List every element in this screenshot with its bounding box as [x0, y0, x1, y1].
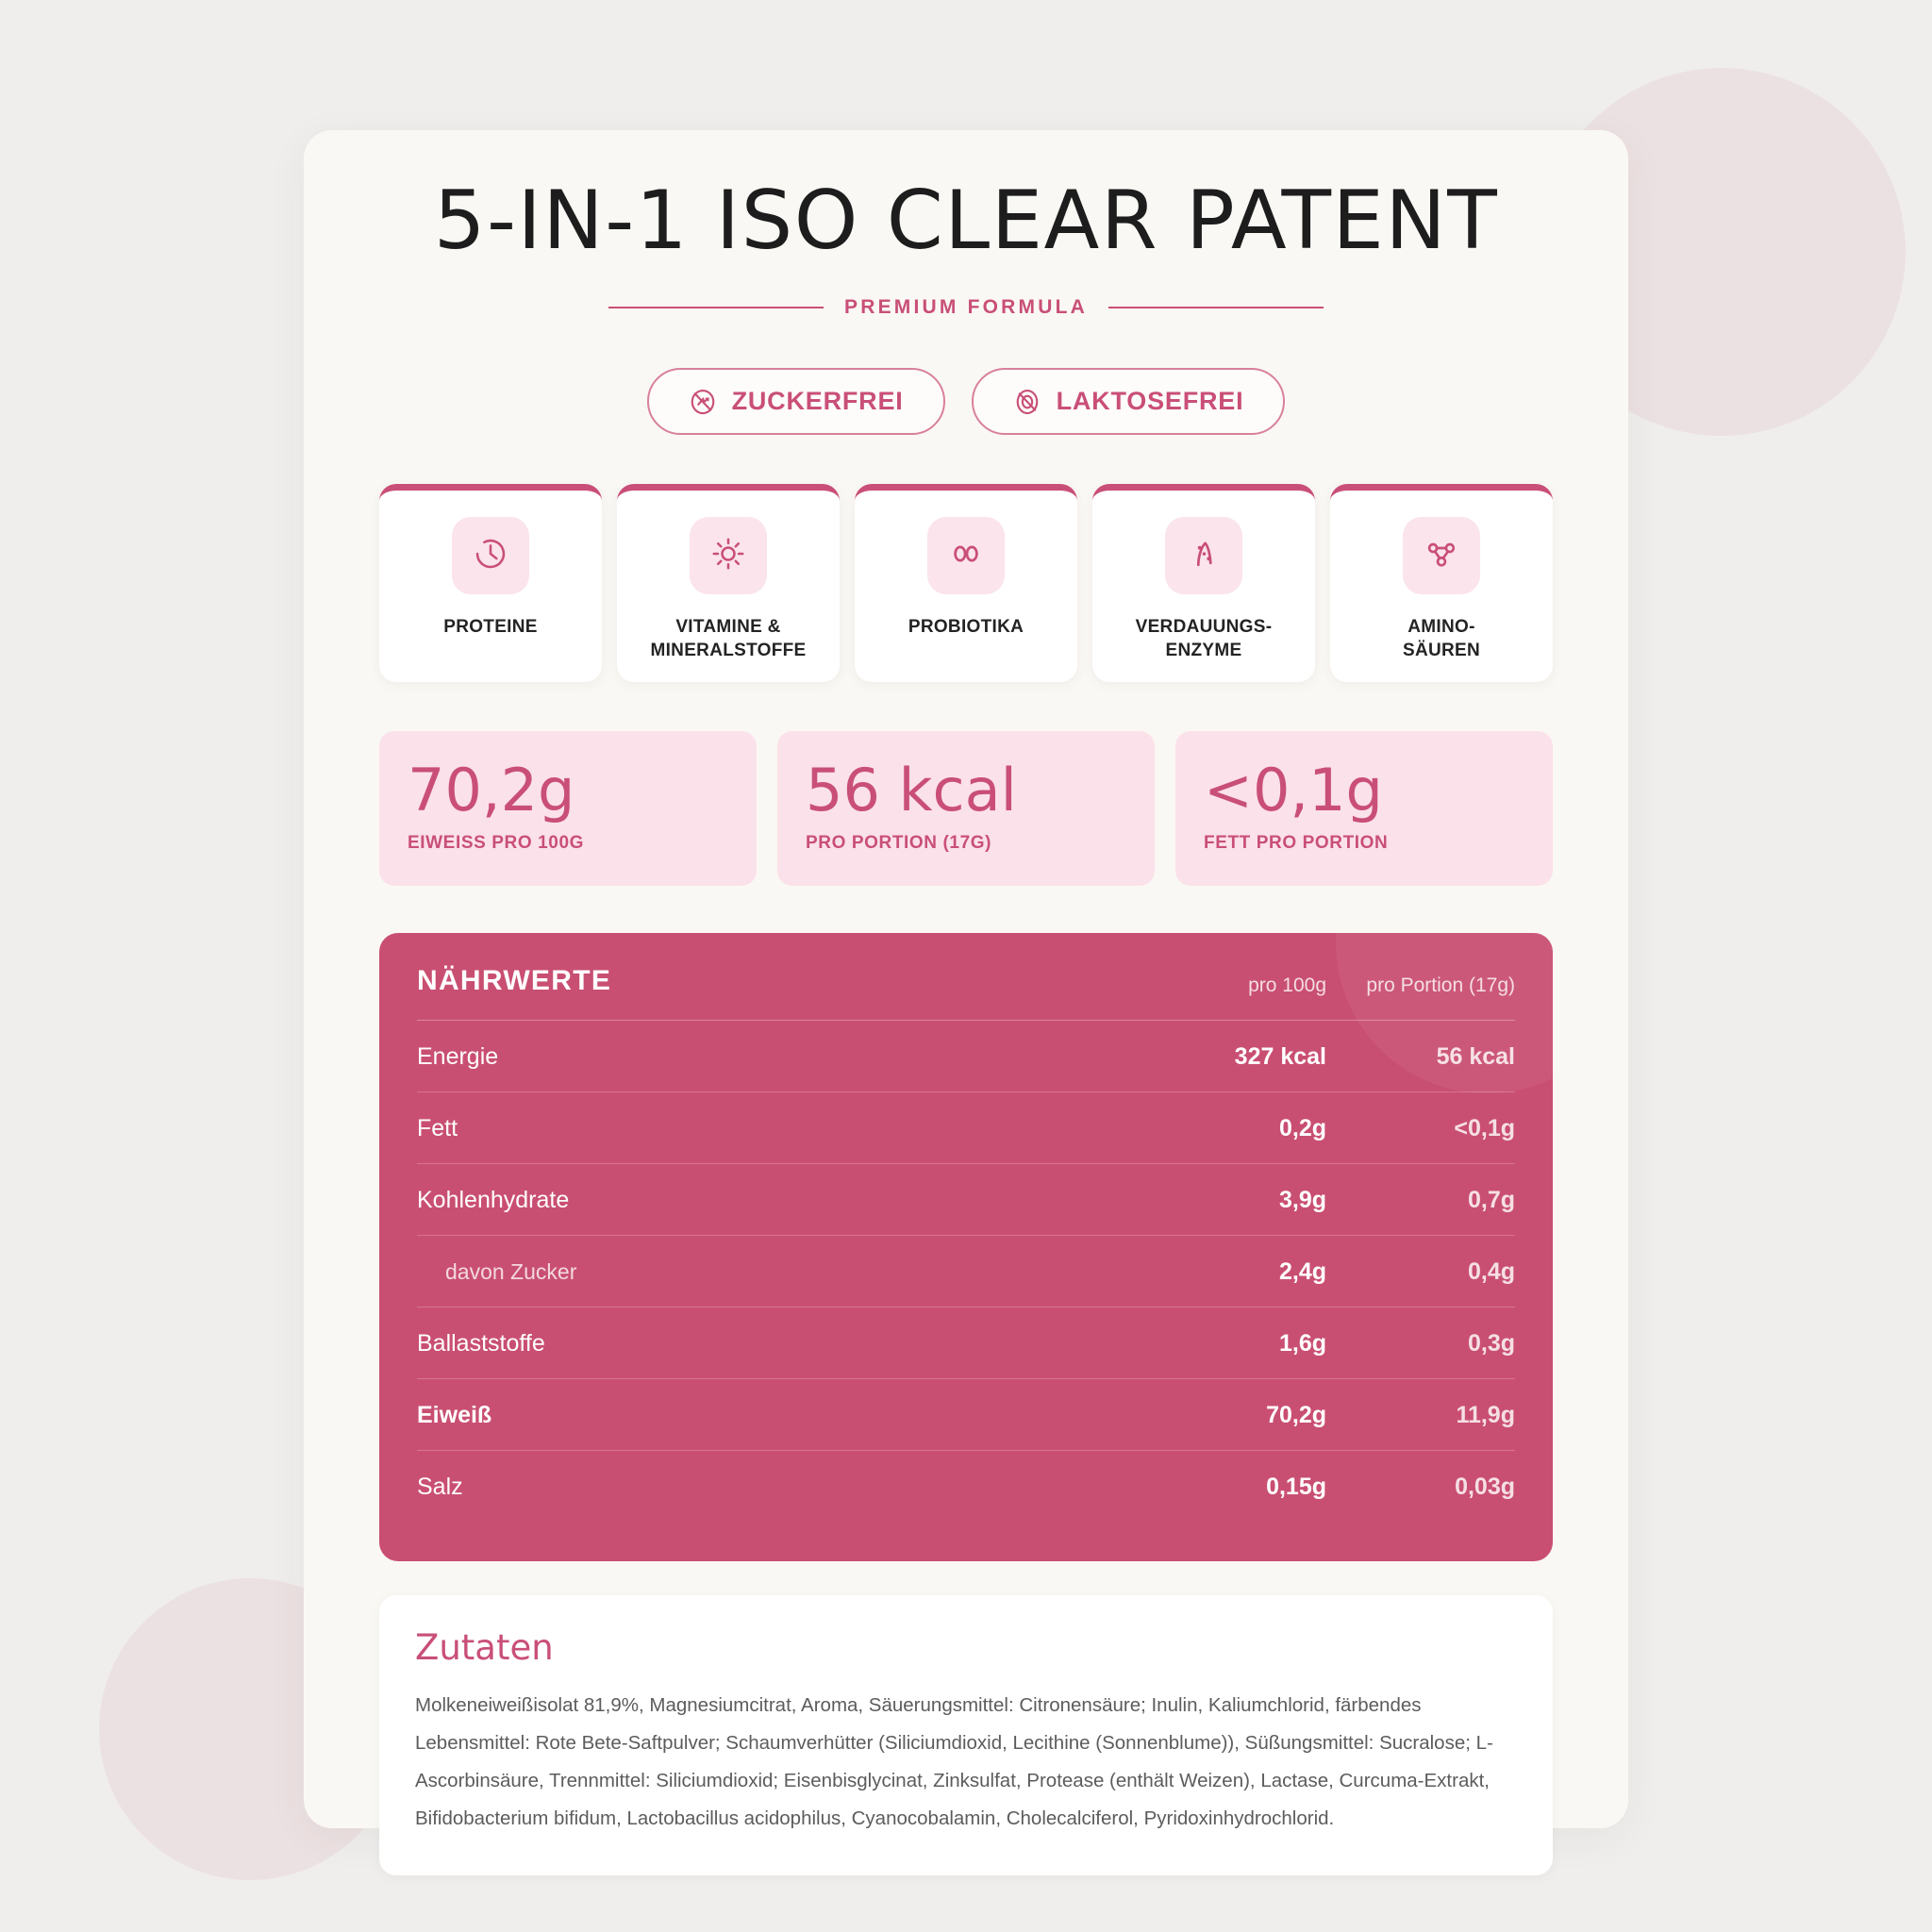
nutrient-per-portion: 0,7g	[1326, 1187, 1515, 1214]
stat-value: <0,1g	[1204, 761, 1524, 820]
nutrient-per-portion: 56 kcal	[1326, 1043, 1515, 1071]
feature-card-probiotika[interactable]: PROBIOTIKA	[855, 484, 1077, 682]
feature-label: PROBIOTIKA	[903, 615, 1029, 639]
nutrient-name: davon Zucker	[417, 1259, 1138, 1285]
divider-right	[1108, 307, 1324, 308]
ingredients-text: Molkeneiweißisolat 81,9%, Magnesiumcitra…	[415, 1687, 1517, 1838]
nutrition-table-title: NÄHRWERTE	[417, 965, 1138, 997]
stat-fat: <0,1g FETT PRO PORTION	[1175, 731, 1553, 886]
nutrient-per-100g: 3,9g	[1138, 1187, 1326, 1214]
feature-icon-tile	[690, 517, 767, 594]
nutrient-per-portion: 11,9g	[1326, 1402, 1515, 1429]
badge-laktosefrei[interactable]: LAKTOSEFREI	[972, 368, 1286, 435]
nutrient-per-100g: 0,2g	[1138, 1115, 1326, 1142]
badge-zuckerfrei[interactable]: ZUCKERFREI	[647, 368, 945, 435]
page-title: 5-IN-1 ISO CLEAR PATENT	[379, 130, 1553, 264]
table-row: Ballaststoffe 1,6g 0,3g	[417, 1307, 1515, 1379]
bacteria-icon	[948, 536, 984, 576]
badge-label: LAKTOSEFREI	[1057, 387, 1244, 416]
free-from-badges: ZUCKERFREI LAKTOSEFREI	[379, 368, 1553, 435]
divider-left	[608, 307, 824, 308]
highlight-stats: 70,2g EIWEISS PRO 100G 56 kcal PRO PORTI…	[379, 731, 1553, 886]
stat-caption: PRO PORTION (17G)	[806, 833, 1126, 854]
nutrient-per-100g: 2,4g	[1138, 1258, 1326, 1286]
feature-card-aminosaeuren[interactable]: AMINO- SÄUREN	[1330, 484, 1553, 682]
stat-caption: FETT PRO PORTION	[1204, 833, 1524, 854]
nutrient-name: Eiweiß	[417, 1402, 1138, 1429]
nutrient-per-portion: 0,3g	[1326, 1330, 1515, 1357]
nutrient-per-100g: 1,6g	[1138, 1330, 1326, 1357]
nutrition-table-header: NÄHRWERTE pro 100g pro Portion (17g)	[417, 965, 1515, 1021]
subtitle-text: PREMIUM FORMULA	[844, 296, 1088, 319]
ingredients-panel: Zutaten Molkeneiweißisolat 81,9%, Magnes…	[379, 1595, 1553, 1875]
nutrient-per-portion: 0,4g	[1326, 1258, 1515, 1286]
feature-label: AMINO- SÄUREN	[1397, 615, 1486, 663]
molecule-icon	[1424, 536, 1459, 576]
feature-card-verdauungsenzyme[interactable]: VERDAUUNGS- ENZYME	[1092, 484, 1315, 682]
feature-icon-tile	[1165, 517, 1242, 594]
ingredients-title: Zutaten	[415, 1627, 1517, 1668]
column-header-per-portion: pro Portion (17g)	[1326, 974, 1515, 997]
table-row: Kohlenhydrate 3,9g 0,7g	[417, 1164, 1515, 1236]
nutrient-per-portion: 0,03g	[1326, 1474, 1515, 1501]
feature-icon-tile	[1403, 517, 1480, 594]
column-header-per-100g: pro 100g	[1138, 974, 1326, 997]
clock-icon	[473, 536, 508, 576]
table-row: Salz 0,15g 0,03g	[417, 1451, 1515, 1522]
feature-label: VERDAUUNGS- ENZYME	[1130, 615, 1278, 663]
feature-label: PROTEINE	[438, 615, 543, 639]
nutrient-per-100g: 0,15g	[1138, 1474, 1326, 1501]
table-row: davon Zucker 2,4g 0,4g	[417, 1236, 1515, 1307]
nutrient-per-portion: <0,1g	[1326, 1115, 1515, 1142]
stat-value: 70,2g	[408, 761, 728, 820]
badge-label: ZUCKERFREI	[732, 387, 904, 416]
feature-card-proteine[interactable]: PROTEINE	[379, 484, 602, 682]
feature-label: VITAMINE & MINERALSTOFFE	[644, 615, 811, 663]
stat-value: 56 kcal	[806, 761, 1126, 820]
feature-icon-tile	[927, 517, 1005, 594]
feature-card-vitamine[interactable]: VITAMINE & MINERALSTOFFE	[617, 484, 840, 682]
nutrient-per-100g: 327 kcal	[1138, 1043, 1326, 1071]
enzyme-icon	[1186, 536, 1222, 576]
subtitle-row: PREMIUM FORMULA	[379, 296, 1553, 319]
stat-protein: 70,2g EIWEISS PRO 100G	[379, 731, 757, 886]
nutrient-per-100g: 70,2g	[1138, 1402, 1326, 1429]
table-row: Eiweiß 70,2g 11,9g	[417, 1379, 1515, 1451]
nutrient-name: Fett	[417, 1115, 1138, 1142]
table-row: Fett 0,2g <0,1g	[417, 1092, 1515, 1164]
no-lactose-icon	[1013, 388, 1041, 416]
nutrient-name: Kohlenhydrate	[417, 1187, 1138, 1214]
feature-cards: PROTEINE VIT	[379, 484, 1553, 682]
table-row: Energie 327 kcal 56 kcal	[417, 1021, 1515, 1092]
feature-icon-tile	[452, 517, 529, 594]
nutrient-name: Ballaststoffe	[417, 1330, 1138, 1357]
no-sugar-icon	[689, 388, 717, 416]
nutrient-name: Energie	[417, 1043, 1138, 1071]
sun-icon	[710, 536, 746, 576]
stat-energy: 56 kcal PRO PORTION (17G)	[777, 731, 1155, 886]
product-info-card: 5-IN-1 ISO CLEAR PATENT PREMIUM FORMULA …	[304, 130, 1628, 1828]
stat-caption: EIWEISS PRO 100G	[408, 833, 728, 854]
nutrient-name: Salz	[417, 1474, 1138, 1501]
nutrition-table: NÄHRWERTE pro 100g pro Portion (17g) Ene…	[379, 933, 1553, 1561]
